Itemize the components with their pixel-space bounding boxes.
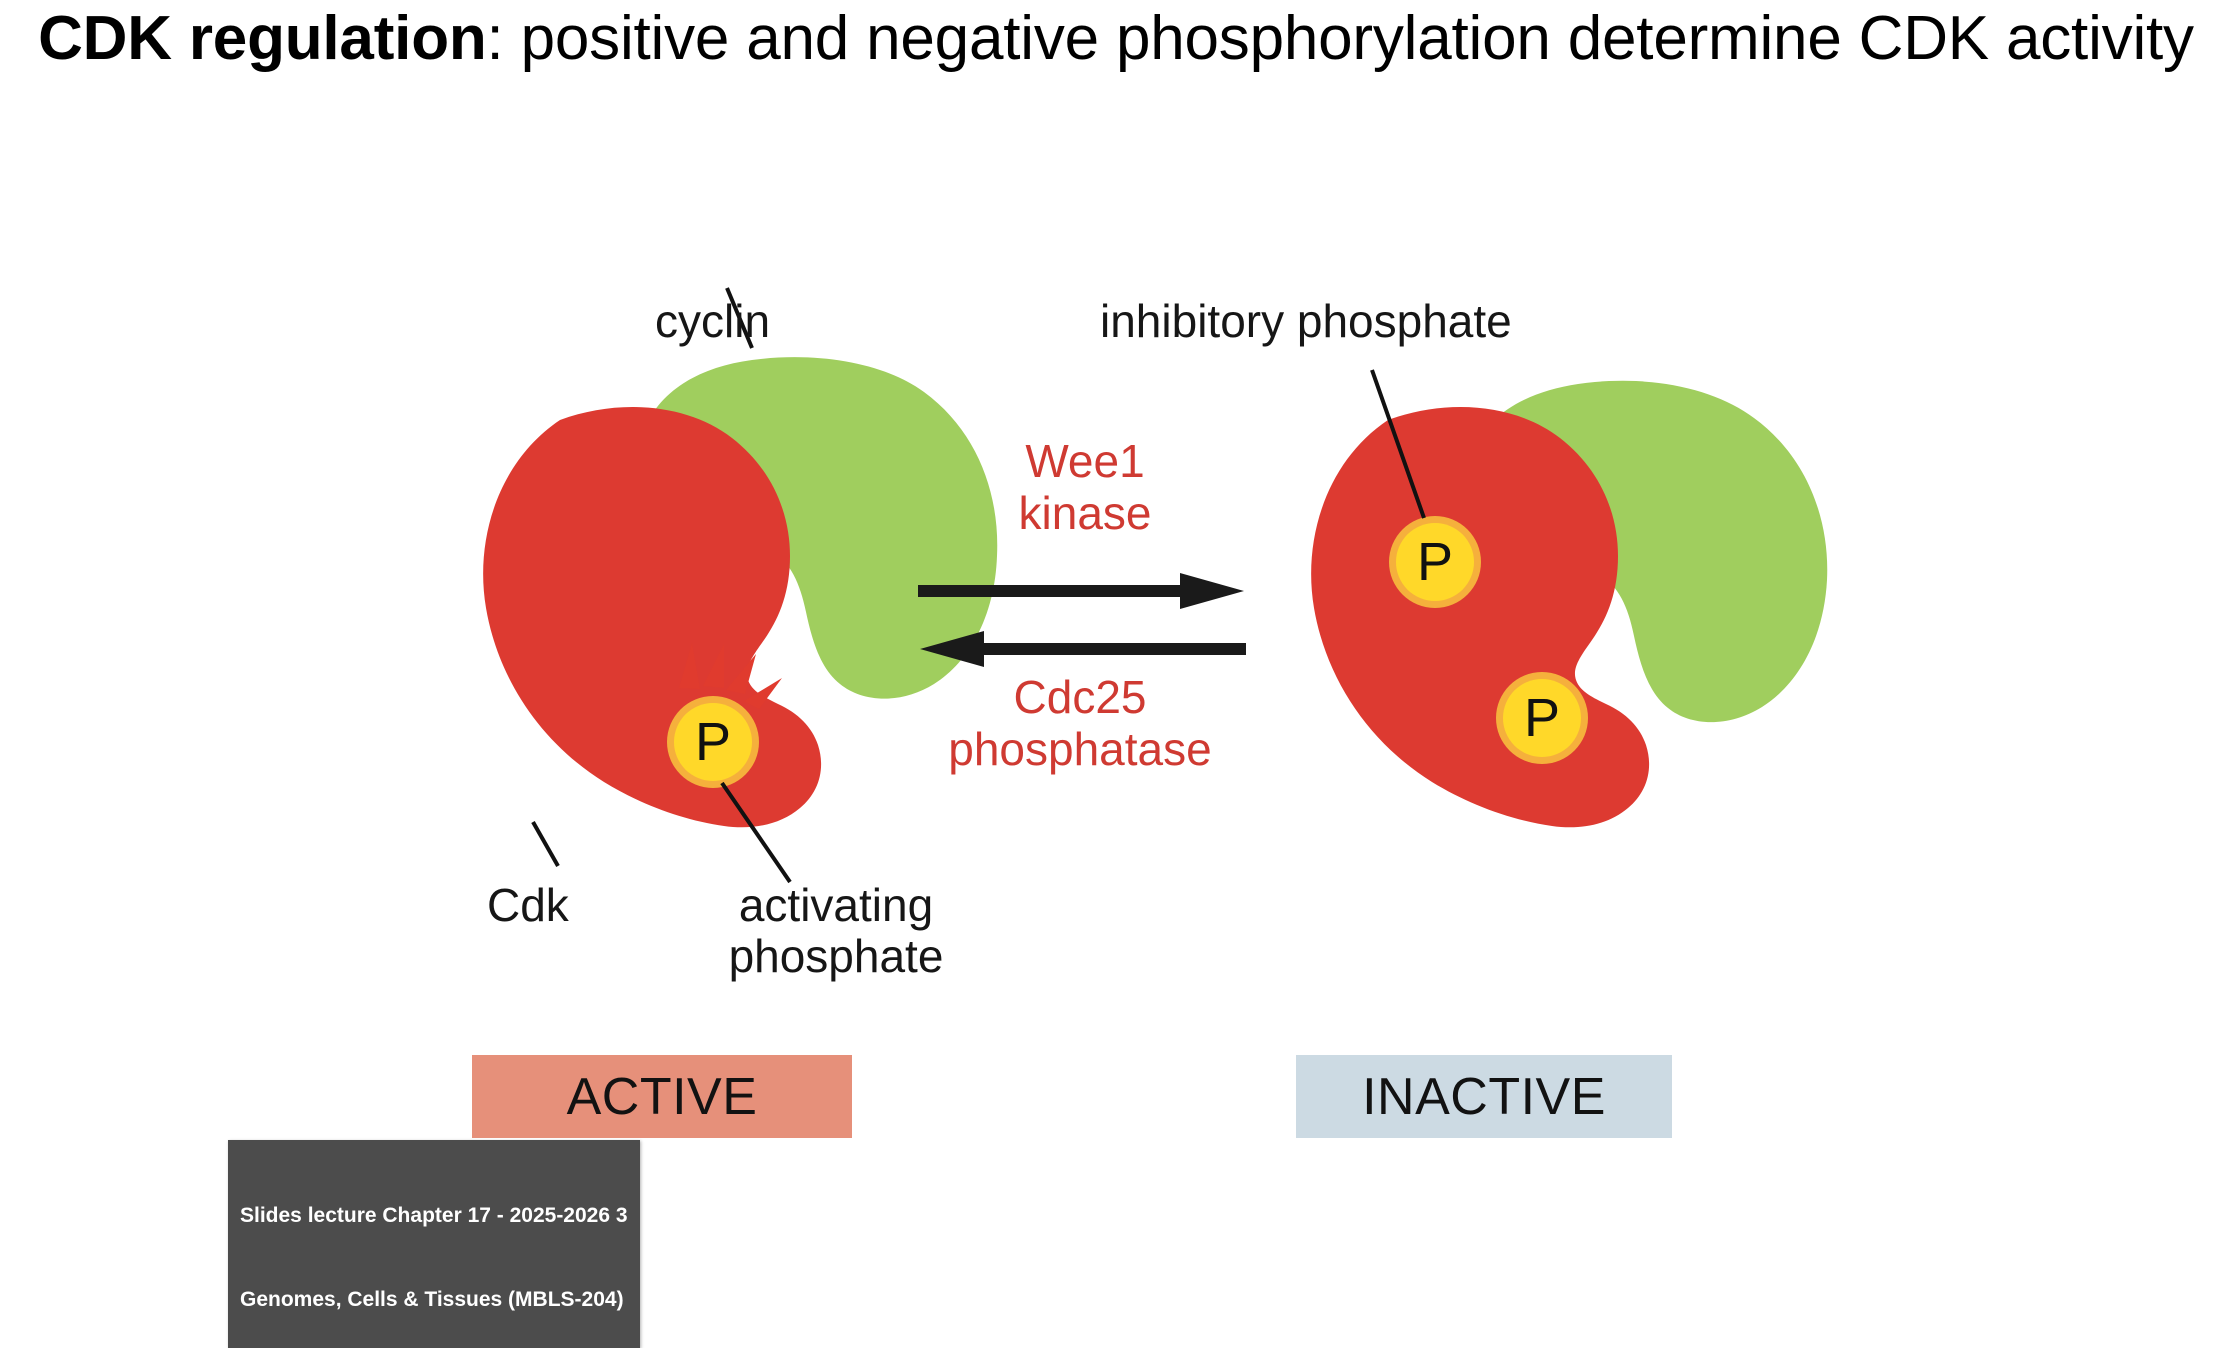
cdc25-phosphatase-label: Cdc25 phosphatase	[880, 672, 1280, 775]
cdk-leader-line	[533, 822, 558, 866]
svg-text:P: P	[695, 712, 731, 772]
cdk-label: Cdk	[487, 880, 569, 931]
wee1-kinase-label: Wee1 kinase	[930, 436, 1240, 539]
slide-source-line-2: Genomes, Cells & Tissues (MBLS-204)	[240, 1286, 628, 1314]
status-badge-inactive-text: INACTIVE	[1362, 1067, 1606, 1127]
slide-source-tooltip: Slides lecture Chapter 17 - 2025-2026 3 …	[228, 1140, 640, 1348]
status-badge-inactive: INACTIVE	[1296, 1055, 1672, 1138]
svg-text:P: P	[1524, 688, 1560, 748]
slide-source-line-1: Slides lecture Chapter 17 - 2025-2026 3	[240, 1202, 628, 1230]
activating-phosphate-circle: P	[667, 696, 759, 788]
inhibitory-phosphate-label: inhibitory phosphate	[1100, 296, 1512, 347]
status-badge-active: ACTIVE	[472, 1055, 852, 1138]
cyclin-label: cyclin	[655, 296, 770, 347]
cdc25-reverse-arrow	[920, 631, 1246, 667]
activating-phosphate-circle-right: P	[1496, 672, 1588, 764]
cdk-regulation-diagram: P P P	[0, 0, 2232, 1228]
inhibitory-phosphate-circle: P	[1389, 516, 1481, 608]
svg-text:P: P	[1417, 532, 1453, 592]
activating-phosphate-label: activating phosphate	[676, 880, 996, 981]
status-badge-active-text: ACTIVE	[567, 1067, 758, 1127]
